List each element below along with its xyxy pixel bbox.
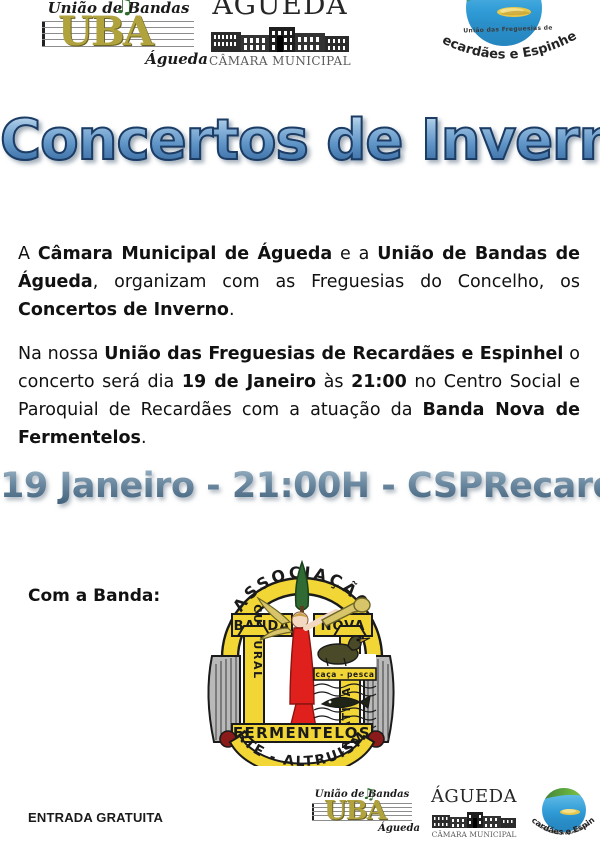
p2-s3: 19 de Janeiro [182,372,316,392]
p2-s5: 21:00 [351,372,407,392]
footer-music-note-icon: ♫ [362,787,375,802]
page-title: Concertos de Inverno [0,112,600,171]
entrada-gratuita-label: ENTRADA GRATUITA [28,810,163,825]
p1-s0: A [18,244,38,264]
building-icon [211,24,349,52]
footer-camara-title: ÁGUEDA [426,786,522,807]
p1-s2: e a [332,244,377,264]
svg-text:CULTURAL: CULTURAL [251,604,264,679]
event-date-headline: 19 Janeiro - 21:00H - CSPRecardães [0,466,600,506]
camara-logo-subtitle: CÂMARA MUNICIPAL [205,54,355,68]
footer-camara-municipal-logo: ÁGUEDA [426,786,522,844]
paragraph-event-details: Na nossa União das Freguesias de Recardã… [18,340,580,452]
poster-canvas: União de Bandas UBA ♫ Águeda ÁGUEDA [0,0,600,849]
p2-s8: . [141,428,147,448]
paragraph-organizers: A Câmara Municipal de Águeda e a União d… [18,240,580,324]
footer-uba-bottom-text: Águeda [304,823,420,834]
music-note-icon: ♫ [114,0,122,22]
camara-logo-title: ÁGUEDA [205,0,355,21]
camara-municipal-agueda-logo: ÁGUEDA [205,0,355,76]
footer-uniao-de-bandas-logo: União de Bandas UBA ♫ Águeda [304,789,422,841]
header-logo-row: União de Bandas UBA ♫ Águeda ÁGUEDA [0,0,600,90]
footer-freguesias-logo: União das Freguesias de Recardães e Espi… [528,786,600,844]
uniao-freguesias-recardaes-espinhel-logo: União das Freguesias de Recardães e Espi… [432,0,582,82]
banda-nova-fermentelos-emblem: ASSOCIAÇÃO BANDA NOVA C [196,528,408,766]
com-a-banda-label: Com a Banda: [28,586,160,606]
footer-building-icon [432,810,516,828]
footer-uba-letters: UBA [324,798,386,824]
uba-logo-letters: UBA [58,12,152,52]
footer-logo-row: União de Bandas UBA ♫ Águeda ÁGUEDA [300,784,600,848]
p1-s5: Concertos de Inverno [18,300,229,320]
freguesias-logo-curved-text: Recardães e Espinhel [432,32,582,68]
p1-s4: , organizam com as Freguesias do Concelh… [93,272,580,292]
uba-logo-bottom-text: Águeda [36,50,208,68]
p2-s4: às [316,372,351,392]
svg-text:caça - pesca: caça - pesca [316,670,375,679]
p2-s0: Na nossa [18,344,104,364]
uniao-de-bandas-logo: União de Bandas UBA ♫ Águeda [28,0,208,78]
svg-text:Recardães e Espinhel: Recardães e Espinhel [432,32,579,63]
p1-s1: Câmara Municipal de Águeda [38,244,332,264]
p1-s6: . [229,300,235,320]
footer-camara-subtitle: CÂMARA MUNICIPAL [426,830,522,839]
p2-s1: União das Freguesias de Recardães e Espi… [104,344,563,364]
poster-body-text: A Câmara Municipal de Águeda e a União d… [18,240,580,468]
